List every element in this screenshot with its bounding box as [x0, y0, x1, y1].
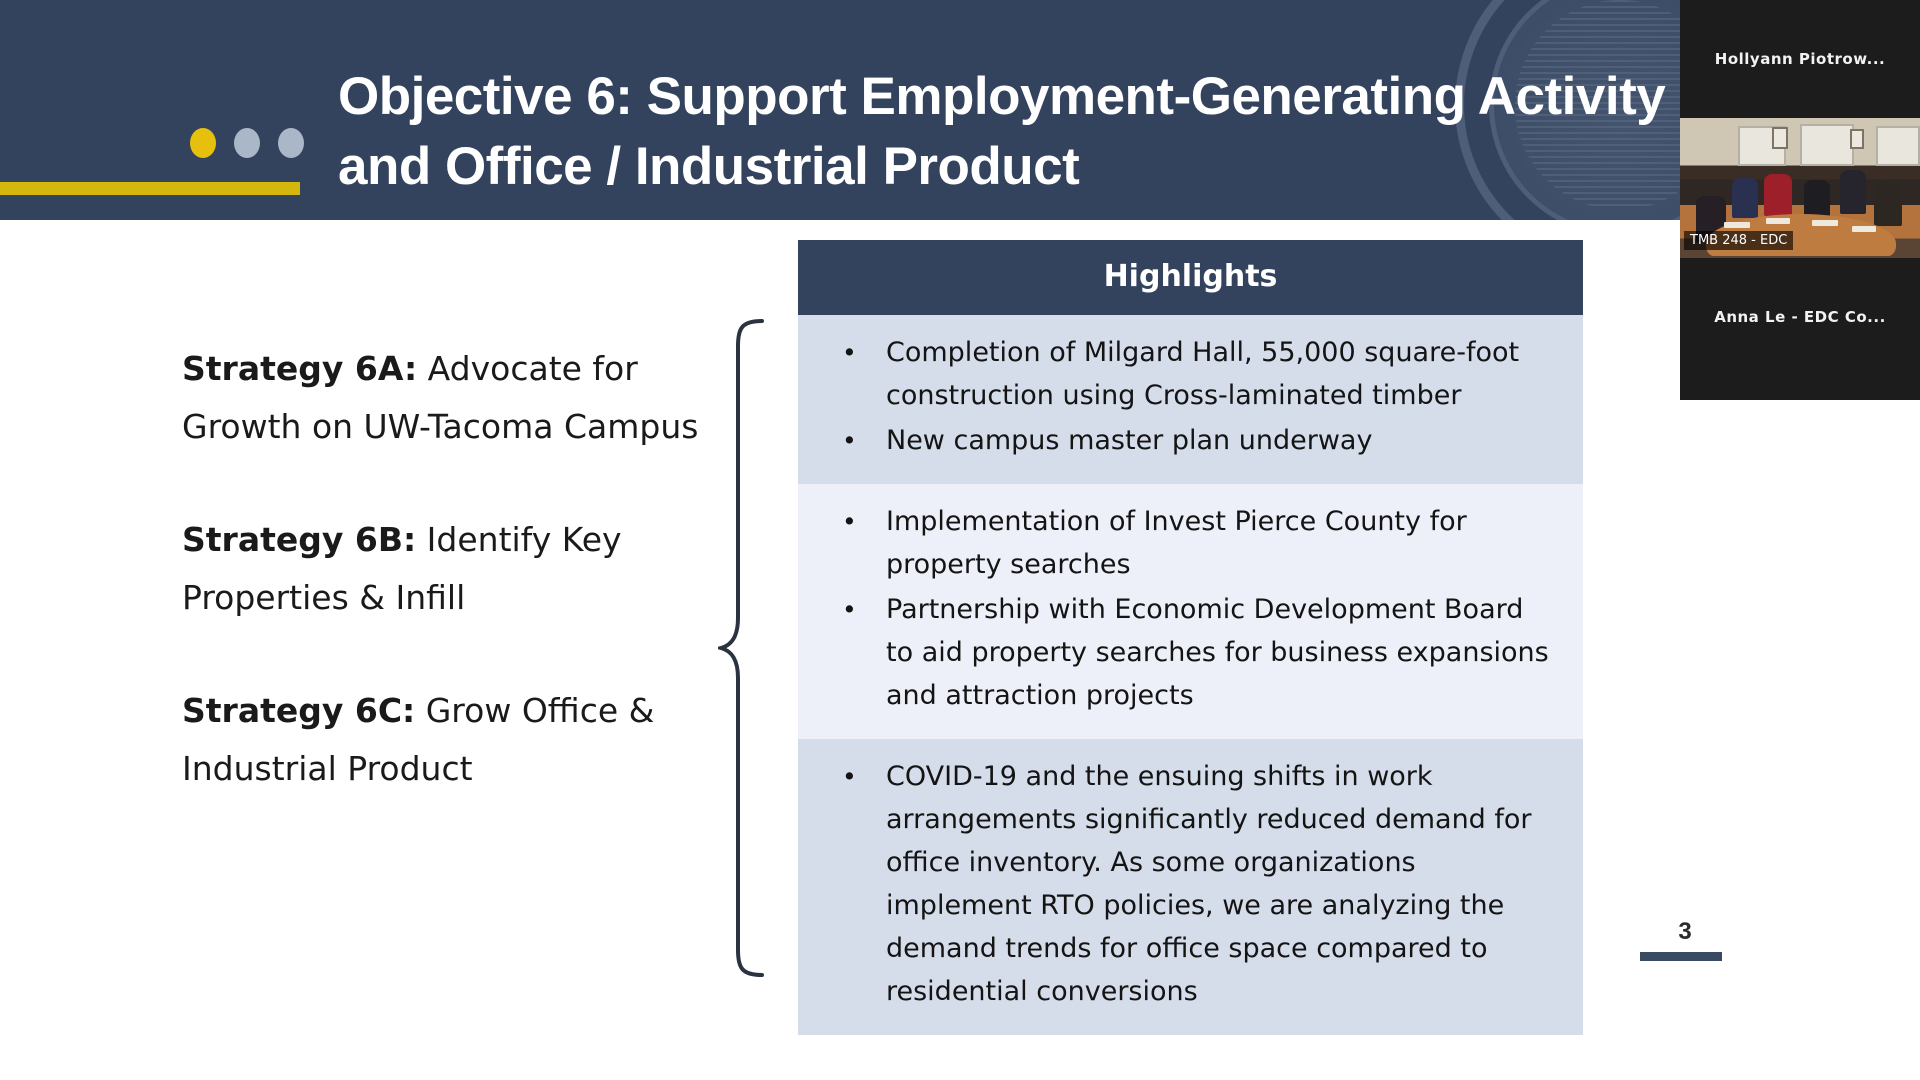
page-number-value: 3: [1640, 918, 1730, 946]
video-tile-participant-1[interactable]: Hollyann Piotrow...: [1680, 0, 1920, 118]
window-3: [1876, 126, 1920, 166]
dot-grey-2-icon: [278, 128, 304, 158]
strategy-6b-label: Strategy 6B:: [182, 520, 416, 559]
wall-picture-1: [1772, 127, 1788, 149]
strategy-item-6b: Strategy 6B: Identify Key Properties & I…: [182, 511, 702, 627]
slide-header-band: THE CITY OF SEAL Objective 6: Support Em…: [0, 0, 1920, 220]
dot-gold-icon: [190, 128, 216, 158]
person-3: [1764, 174, 1792, 216]
person-4: [1804, 180, 1830, 218]
highlights-row-3: COVID-19 and the ensuing shifts in work …: [798, 739, 1583, 1035]
video-tile-room-caption: TMB 248 - EDC: [1684, 231, 1793, 250]
strategy-item-6a: Strategy 6A: Advocate for Growth on UW-T…: [182, 340, 702, 456]
strategy-6c-label: Strategy 6C:: [182, 691, 415, 730]
paper-4: [1852, 226, 1876, 232]
presentation-slide: THE CITY OF SEAL Objective 6: Support Em…: [0, 0, 1920, 1080]
participant-name-1: Hollyann Piotrow...: [1715, 50, 1885, 68]
person-5: [1840, 170, 1866, 214]
page-number-underline: [1640, 952, 1722, 961]
dot-grey-1-icon: [234, 128, 260, 158]
person-6: [1874, 182, 1902, 226]
video-tile-room[interactable]: TMB 248 - EDC: [1680, 118, 1920, 258]
highlights-row-2-list: Implementation of Invest Pierce County f…: [828, 500, 1553, 717]
list-item: Completion of Milgard Hall, 55,000 squar…: [828, 331, 1553, 417]
decorative-dots-group: [190, 128, 304, 158]
strategy-6a-label: Strategy 6A:: [182, 349, 417, 388]
highlights-row-1-list: Completion of Milgard Hall, 55,000 squar…: [828, 331, 1553, 462]
strategy-item-6c: Strategy 6C: Grow Office & Industrial Pr…: [182, 682, 702, 798]
person-2: [1732, 178, 1758, 218]
video-tile-participant-2[interactable]: Anna Le - EDC Co...: [1680, 258, 1920, 376]
highlights-row-2: Implementation of Invest Pierce County f…: [798, 484, 1583, 739]
window-2: [1800, 124, 1854, 166]
list-item: Partnership with Economic Development Bo…: [828, 588, 1553, 717]
paper-2: [1766, 218, 1790, 224]
highlights-row-3-list: COVID-19 and the ensuing shifts in work …: [828, 755, 1553, 1013]
paper-3: [1812, 220, 1838, 226]
curly-brace-icon: [718, 318, 764, 978]
highlights-table-header: Highlights: [798, 240, 1583, 315]
highlights-row-1: Completion of Milgard Hall, 55,000 squar…: [798, 315, 1583, 484]
paper-1: [1724, 222, 1750, 228]
strategy-list: Strategy 6A: Advocate for Growth on UW-T…: [182, 340, 702, 853]
wall-picture-2: [1850, 129, 1864, 149]
highlights-table: Highlights Completion of Milgard Hall, 5…: [798, 240, 1583, 1035]
list-item: COVID-19 and the ensuing shifts in work …: [828, 755, 1553, 1013]
video-conference-panel[interactable]: Hollyann Piotrow... TMB: [1680, 0, 1920, 400]
gold-accent-bar: [0, 182, 300, 195]
participant-name-2: Anna Le - EDC Co...: [1714, 308, 1886, 326]
page-number-indicator: 3: [1640, 918, 1730, 961]
list-item: New campus master plan underway: [828, 419, 1553, 462]
list-item: Implementation of Invest Pierce County f…: [828, 500, 1553, 586]
